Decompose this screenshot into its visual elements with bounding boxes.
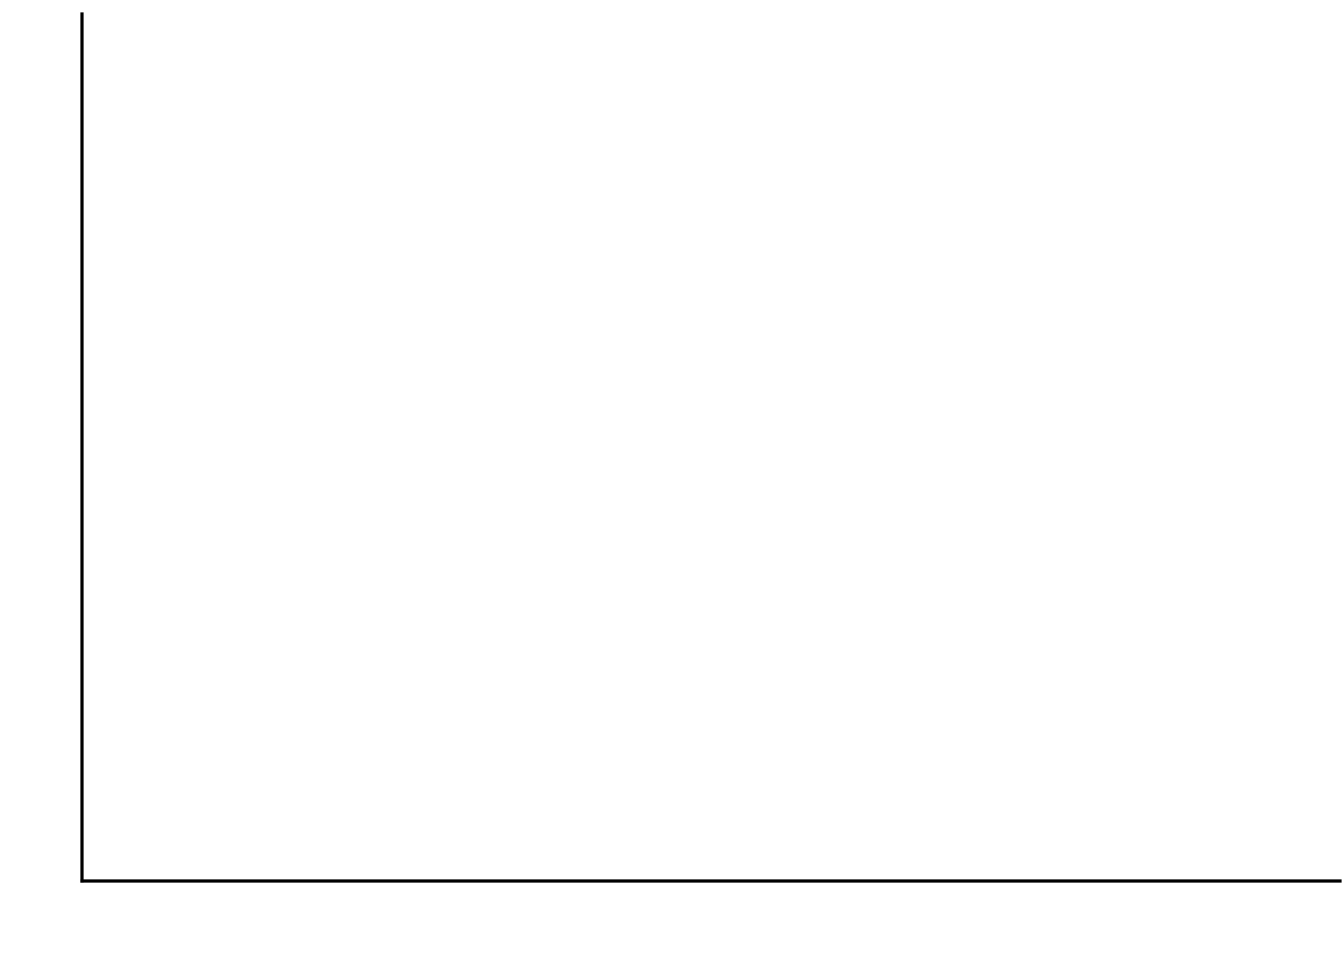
umap-scatter-figure bbox=[0, 0, 1344, 960]
plot-canvas bbox=[0, 0, 1344, 960]
axes-layer bbox=[82, 14, 1340, 881]
